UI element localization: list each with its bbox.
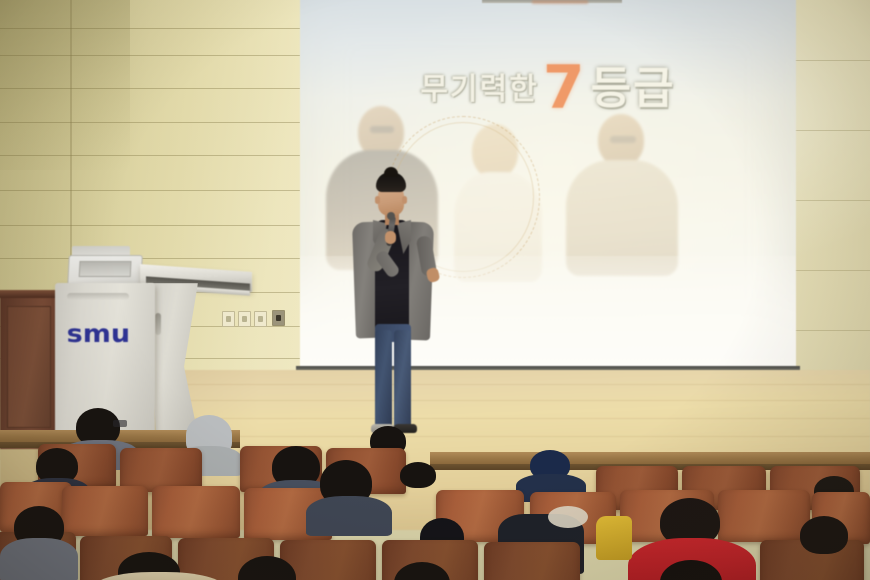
slide-headline-main: 무기력한 — [420, 64, 538, 108]
wall-seam — [0, 225, 300, 226]
wall-seam — [0, 258, 300, 259]
podium-logo-smu: smu — [67, 319, 130, 348]
seat[interactable] — [484, 542, 580, 580]
wall-seam — [795, 200, 870, 201]
audience-head — [800, 516, 848, 554]
audience-shoulders — [0, 538, 78, 580]
wall-seam — [0, 122, 300, 123]
speaker-hand-left — [385, 231, 396, 244]
speaker-ear-right — [402, 196, 407, 204]
wall-seam — [0, 88, 300, 89]
speaker-presenter — [343, 172, 453, 440]
wall-shadow-corner — [0, 0, 130, 170]
projector-mount-accent — [532, 0, 588, 4]
audience-fur-trim — [548, 506, 588, 528]
wall-seam — [795, 130, 870, 131]
slide-headline-tail: 등급 — [591, 52, 676, 116]
audience-yellow-garment — [596, 516, 632, 560]
wall-outlet — [254, 311, 267, 327]
wall-outlet-dark — [272, 310, 285, 326]
podium-groove — [67, 293, 129, 300]
microphone-head — [387, 212, 395, 220]
seat[interactable] — [718, 490, 810, 542]
speaker-ear-left — [375, 196, 380, 204]
wall-seam — [795, 60, 870, 61]
wall-seam — [795, 330, 870, 331]
slide-figure-right — [562, 114, 692, 279]
seat[interactable] — [62, 486, 148, 536]
speaker-leg-left — [375, 330, 392, 428]
podium-handle-slot — [155, 313, 161, 335]
cabinet-panel — [7, 306, 51, 428]
eyeglasses-icon — [113, 420, 127, 427]
wall-seam — [0, 155, 300, 156]
speaker-leg-right — [394, 330, 411, 428]
wall-outlet — [238, 311, 251, 327]
audience-head — [400, 462, 436, 488]
audience-shoulders — [306, 496, 392, 536]
wall-seam — [0, 55, 300, 56]
audience-seating-area — [0, 420, 870, 580]
slide-headline-number: 7 — [543, 53, 587, 123]
auditorium-scene-photo: 무기력한7등급 smu — [0, 0, 870, 580]
wall-seam — [795, 270, 870, 271]
slide-headline: 무기력한7등급 — [300, 44, 796, 114]
podium-monitor-screen — [79, 261, 132, 277]
cabinet-top-surface — [0, 290, 60, 298]
wall-outlet — [222, 311, 235, 327]
speaker-hair-tuft — [384, 167, 398, 177]
wall-seam — [0, 28, 300, 29]
wall-seam — [0, 190, 300, 191]
seat[interactable] — [152, 486, 240, 538]
